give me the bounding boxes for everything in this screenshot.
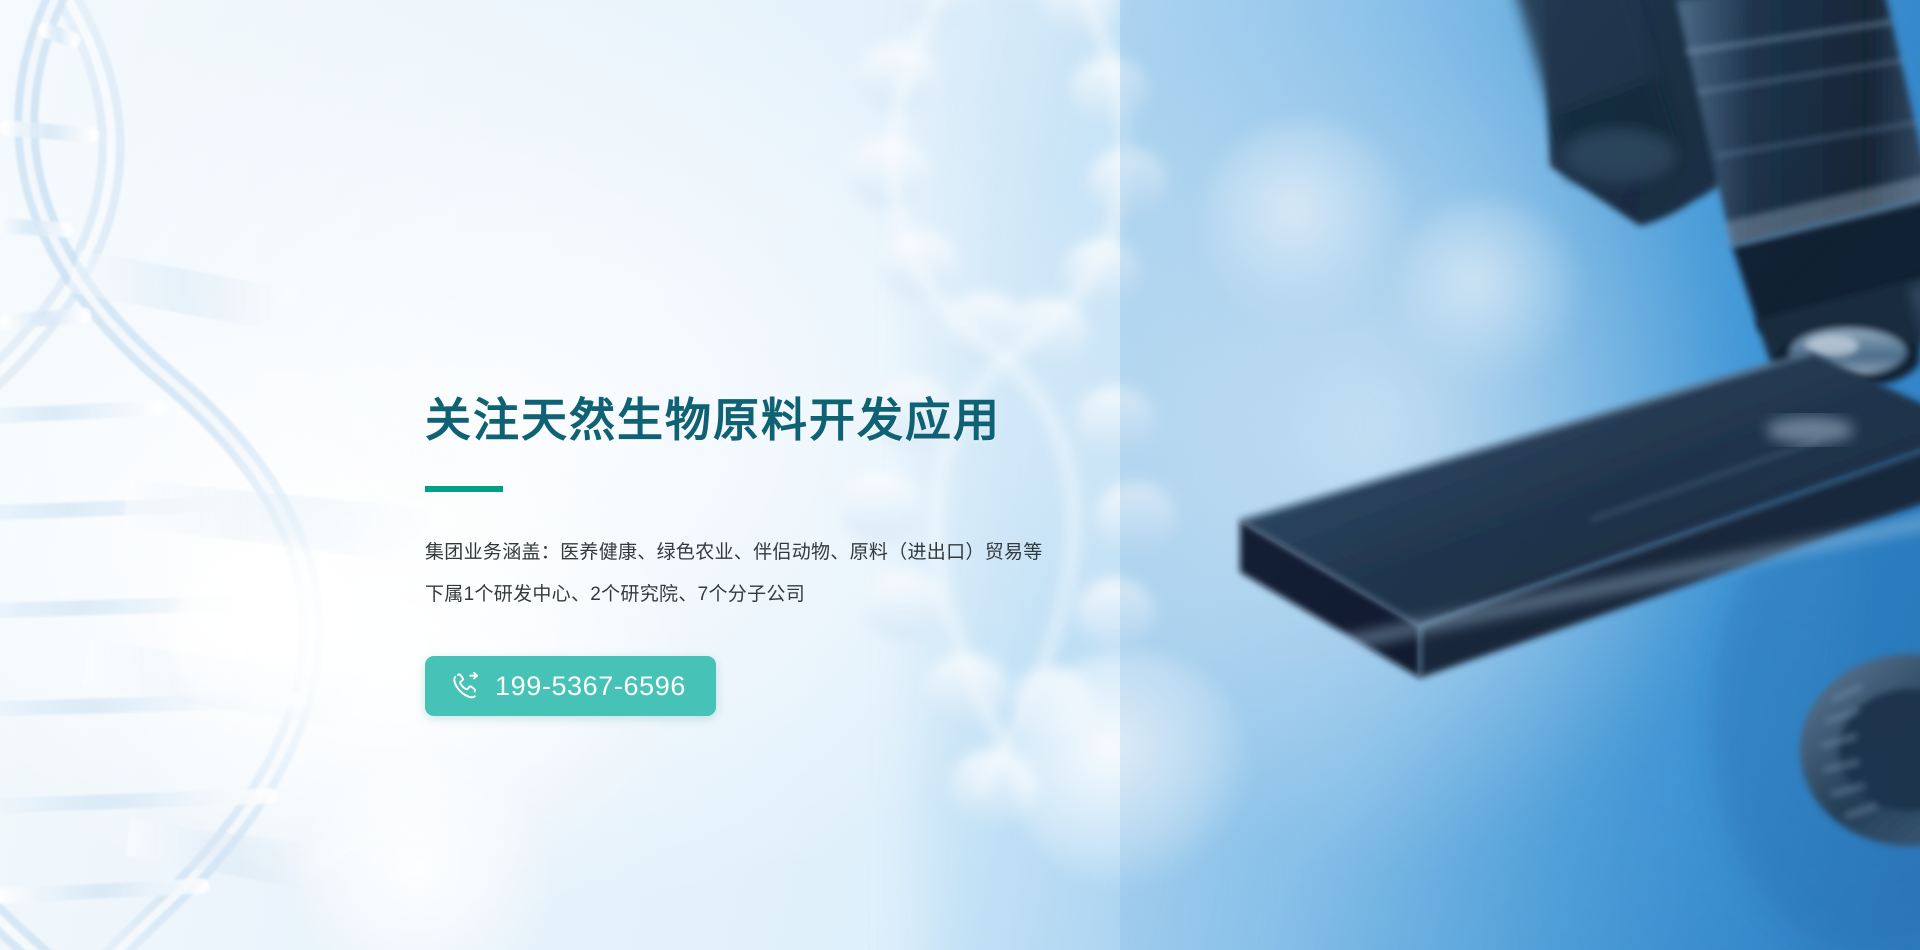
hero-description-line-2: 下属1个研发中心、2个研究院、7个分子公司 (425, 574, 1245, 616)
hero-description-line-1: 集团业务涵盖：医养健康、绿色农业、伴侣动物、原料（进出口）贸易等 (425, 532, 1245, 574)
hero-banner: 关注天然生物原料开发应用 集团业务涵盖：医养健康、绿色农业、伴侣动物、原料（进出… (0, 0, 1920, 950)
hero-content: 关注天然生物原料开发应用 集团业务涵盖：医养健康、绿色农业、伴侣动物、原料（进出… (425, 392, 1245, 716)
phone-forward-icon (451, 671, 481, 701)
title-divider (425, 486, 503, 492)
hero-description: 集团业务涵盖：医养健康、绿色农业、伴侣动物、原料（进出口）贸易等 下属1个研发中… (425, 532, 1245, 616)
phone-number-label: 199-5367-6596 (495, 673, 686, 700)
page-title: 关注天然生物原料开发应用 (425, 392, 1245, 448)
phone-cta-button[interactable]: 199-5367-6596 (425, 656, 716, 716)
